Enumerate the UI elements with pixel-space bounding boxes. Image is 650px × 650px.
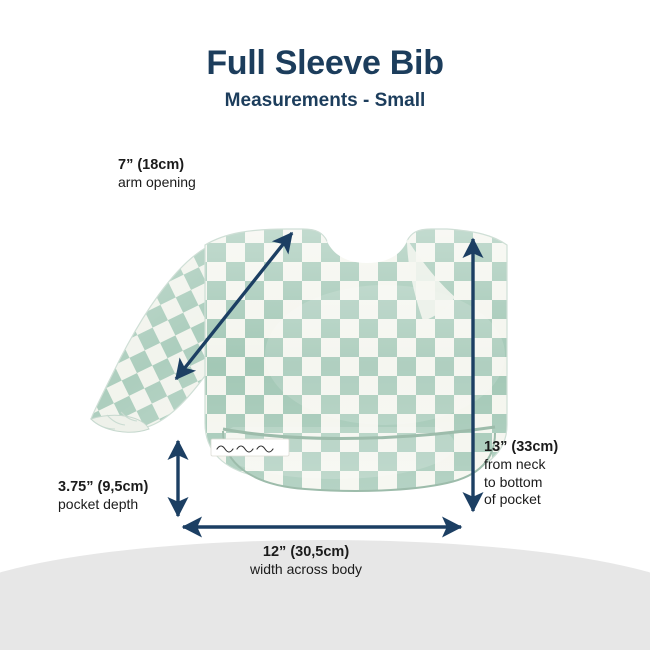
arm-opening-value: 7” (18cm) bbox=[118, 156, 196, 174]
label-neck-to-pocket: 13” (33cm) from neck to bottom of pocket bbox=[484, 438, 558, 509]
label-width-across-body: 12” (30,5cm) width across body bbox=[250, 543, 362, 579]
pocket-depth-description: pocket depth bbox=[58, 496, 148, 514]
label-pocket-depth: 3.75” (9,5cm) pocket depth bbox=[58, 478, 148, 514]
label-arm-opening: 7” (18cm) arm opening bbox=[118, 156, 196, 192]
bib-product-illustration bbox=[55, 205, 525, 525]
arm-opening-description: arm opening bbox=[118, 174, 196, 192]
neck-to-pocket-description-line1: from neck bbox=[484, 456, 558, 474]
width-across-body-value: 12” (30,5cm) bbox=[250, 543, 362, 561]
neck-to-pocket-description-line2: to bottom bbox=[484, 474, 558, 492]
neck-to-pocket-description-line3: of pocket bbox=[484, 491, 558, 509]
brand-tag bbox=[211, 439, 289, 456]
width-across-body-description: width across body bbox=[250, 561, 362, 579]
neck-to-pocket-value: 13” (33cm) bbox=[484, 438, 558, 456]
page-title: Full Sleeve Bib bbox=[0, 44, 650, 83]
measurement-diagram-page: Full Sleeve Bib Measurements - Small bbox=[0, 0, 650, 650]
page-subtitle: Measurements - Small bbox=[0, 90, 650, 112]
pocket-depth-value: 3.75” (9,5cm) bbox=[58, 478, 148, 496]
